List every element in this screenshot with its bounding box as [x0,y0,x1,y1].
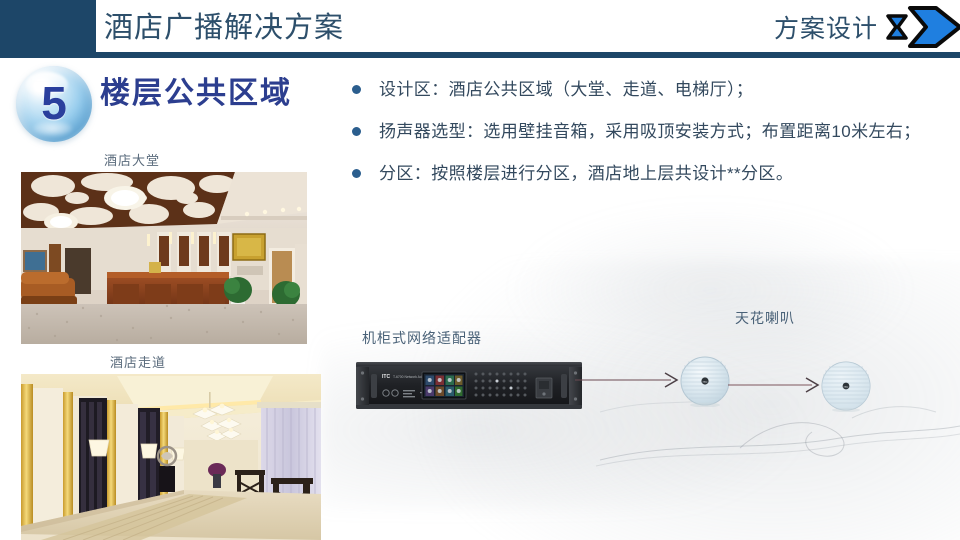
slide-header: 酒店广播解决方案 方案设计 [0,0,960,58]
photo-caption-lobby: 酒店大堂 [104,150,160,169]
bullet-text: 扬声器选型：选用壁挂音箱，采用吸顶安装方式；布置距离10米左右； [379,118,921,146]
arrow-connector-icon [728,375,828,395]
bullet-dot-icon [352,127,361,136]
diagram-label-rack: 机柜式网络适配器 [362,328,482,348]
bullet-text: 设计区：酒店公共区域（大堂、走道、电梯厅）； [379,76,753,104]
list-item: 扬声器选型：选用壁挂音箱，采用吸顶安装方式；布置距离10米左右； [352,118,952,146]
slide-canvas: 酒店广播解决方案 方案设计 5 楼层公共区域 酒店大堂 [0,0,960,540]
ceiling-speaker-icon: ITC [820,360,872,412]
right-arrow-icon [884,2,960,52]
rack-network-adapter-icon: ITC T-6700 Network Adapter [356,362,582,410]
section-number-badge: 5 [16,66,92,142]
arrow-connector-icon [575,370,687,390]
header-section-label: 方案设计 [774,10,878,48]
ceiling-speaker-icon: ITC [679,355,731,407]
diagram-label-speaker: 天花喇叭 [735,308,795,328]
photo-caption-corridor: 酒店走道 [110,352,166,371]
section-number: 5 [16,66,92,142]
page-title: 酒店广播解决方案 [104,6,344,50]
bullet-text: 分区：按照楼层进行分区，酒店地上层共设计**分区。 [379,160,793,188]
bullet-dot-icon [352,85,361,94]
header-divider-rule [0,52,960,58]
header-accent-block [0,0,96,52]
svg-text:ITC: ITC [844,385,849,389]
bullet-dot-icon [352,169,361,178]
bullet-list: 设计区：酒店公共区域（大堂、走道、电梯厅）； 扬声器选型：选用壁挂音箱，采用吸顶… [352,76,952,202]
section-title: 楼层公共区域 [100,74,292,114]
svg-text:ITC: ITC [382,374,390,380]
list-item: 分区：按照楼层进行分区，酒店地上层共设计**分区。 [352,160,952,188]
svg-text:ITC: ITC [703,380,709,384]
hotel-lobby-photo [21,172,307,344]
list-item: 设计区：酒店公共区域（大堂、走道、电梯厅）； [352,76,952,104]
hotel-corridor-photo [21,374,321,540]
